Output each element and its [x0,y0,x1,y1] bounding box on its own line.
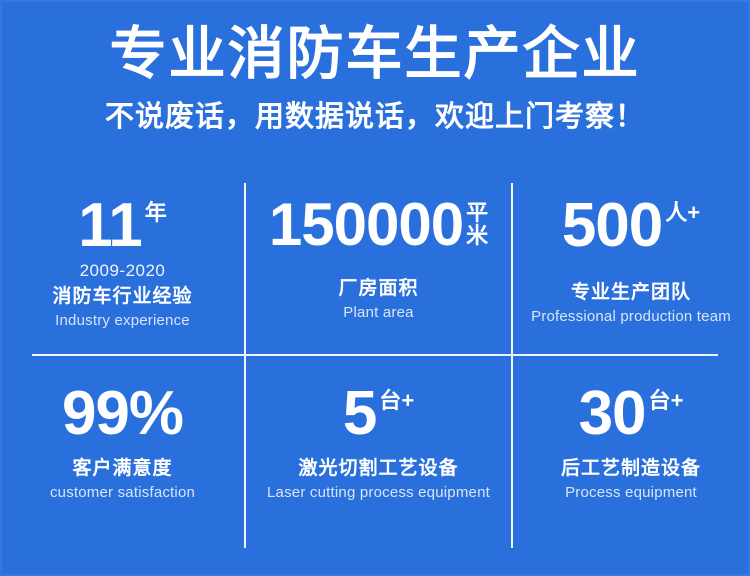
stat-label-cn: 后工艺制造设备 [561,458,701,480]
stat-cell-industry-experience: 11 年 2009-2020 消防车行业经验 Industry experien… [0,183,245,355]
stat-label-cn: 专业生产团队 [571,282,691,304]
stat-label-en: Professional production team [531,308,731,325]
stat-number: 30 [579,385,646,442]
stat-unit-text-bottom: 米 [466,224,488,247]
stat-label-en: Industry experience [55,312,190,329]
stat-number-line: 30 台 + [579,385,684,442]
stat-label-en: customer satisfaction [50,484,195,501]
stat-unit-text: 台 [379,389,401,412]
promo-banner: 专业消防车生产企业 不说废话，用数据说话，欢迎上门考察！ 11 年 2009-2… [0,0,750,576]
stat-unit-text: 人 [665,201,687,224]
stat-number-line: 99% [62,385,183,442]
stat-unit: 台 + [379,389,414,412]
stat-number-line: 500 人 + [562,197,700,254]
page-title: 专业消防车生产企业 [0,26,750,83]
stat-cell-plant-area: 150000 平 米 厂房面积 Plant area [245,183,512,355]
stat-label-cn: 厂房面积 [338,278,418,300]
stat-number-line: 5 台 + [343,385,414,442]
stat-cell-customer-satisfaction: 99% 客户满意度 customer satisfaction [0,355,245,548]
stat-label-en: Plant area [343,304,413,321]
stat-label-cn: 客户满意度 [72,458,172,480]
stat-label-cn: 激光切割工艺设备 [298,458,458,480]
stat-unit-plus: + [401,389,414,412]
stat-unit: 平 米 [466,201,488,247]
stat-number: 5 [343,385,376,442]
stat-number-line: 11 年 [78,197,167,254]
stat-number: 99% [62,385,183,442]
page-subtitle: 不说废话，用数据说话，欢迎上门考察！ [0,103,750,132]
stat-unit: 人 + [665,201,700,224]
banner-header: 专业消防车生产企业 不说废话，用数据说话，欢迎上门考察！ [0,26,750,132]
stat-unit-text: 年 [145,201,167,224]
stats-grid: 11 年 2009-2020 消防车行业经验 Industry experien… [0,183,750,548]
stat-unit-text: 台 [649,389,671,412]
stat-label-en: Laser cutting process equipment [267,484,490,501]
stat-unit-plus: + [671,389,684,412]
stat-label-en: Process equipment [565,484,697,501]
stat-label-cn: 消防车行业经验 [52,286,192,308]
stat-number: 500 [562,197,662,254]
stat-unit: 台 + [649,389,684,412]
stat-cell-process-equipment: 30 台 + 后工艺制造设备 Process equipment [512,355,750,548]
stat-cell-production-team: 500 人 + 专业生产团队 Professional production t… [512,183,750,355]
stat-cell-laser-cutting-equipment: 5 台 + 激光切割工艺设备 Laser cutting process equ… [245,355,512,548]
stat-unit-text-top: 平 [466,201,488,224]
stat-number-line: 150000 平 米 [269,197,488,252]
stat-period: 2009-2020 [80,262,166,279]
stat-number: 150000 [269,197,463,252]
stat-unit: 年 [145,201,167,224]
stat-unit-plus: + [687,201,700,224]
stat-number: 11 [78,197,142,254]
